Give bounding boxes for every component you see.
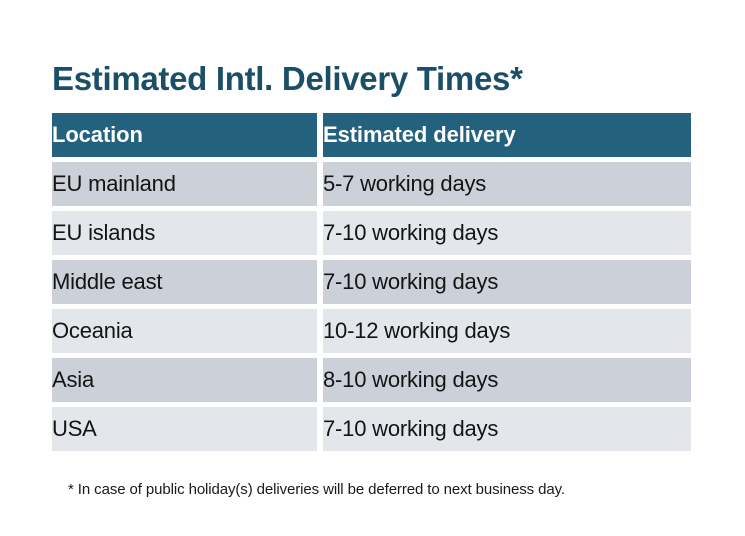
- cell-location: USA: [52, 407, 317, 451]
- cell-delivery: 7-10 working days: [323, 260, 691, 304]
- table-row: Middle east 7-10 working days: [52, 260, 691, 304]
- table-body: EU mainland 5-7 working days EU islands …: [52, 157, 691, 451]
- table-row: Oceania 10-12 working days: [52, 309, 691, 353]
- column-header-estimated-delivery: Estimated delivery: [323, 113, 691, 157]
- column-header-location: Location: [52, 113, 317, 157]
- delivery-times-page: Estimated Intl. Delivery Times* Location…: [0, 0, 745, 536]
- cell-location: EU islands: [52, 211, 317, 255]
- table-row: USA 7-10 working days: [52, 407, 691, 451]
- cell-location: Middle east: [52, 260, 317, 304]
- cell-location: Oceania: [52, 309, 317, 353]
- cell-location: Asia: [52, 358, 317, 402]
- cell-delivery: 8-10 working days: [323, 358, 691, 402]
- table-header-row: Location Estimated delivery: [52, 113, 691, 157]
- cell-delivery: 5-7 working days: [323, 162, 691, 206]
- cell-delivery: 7-10 working days: [323, 407, 691, 451]
- table-header: Location Estimated delivery: [52, 113, 691, 157]
- estimated-delivery-table: Location Estimated delivery EU mainland …: [52, 113, 691, 451]
- table-row: EU mainland 5-7 working days: [52, 162, 691, 206]
- cell-delivery: 7-10 working days: [323, 211, 691, 255]
- table-row: Asia 8-10 working days: [52, 358, 691, 402]
- cell-location: EU mainland: [52, 162, 317, 206]
- page-title: Estimated Intl. Delivery Times*: [52, 58, 523, 100]
- footnote-public-holiday: * In case of public holiday(s) deliverie…: [68, 481, 565, 498]
- table-row: EU islands 7-10 working days: [52, 211, 691, 255]
- cell-delivery: 10-12 working days: [323, 309, 691, 353]
